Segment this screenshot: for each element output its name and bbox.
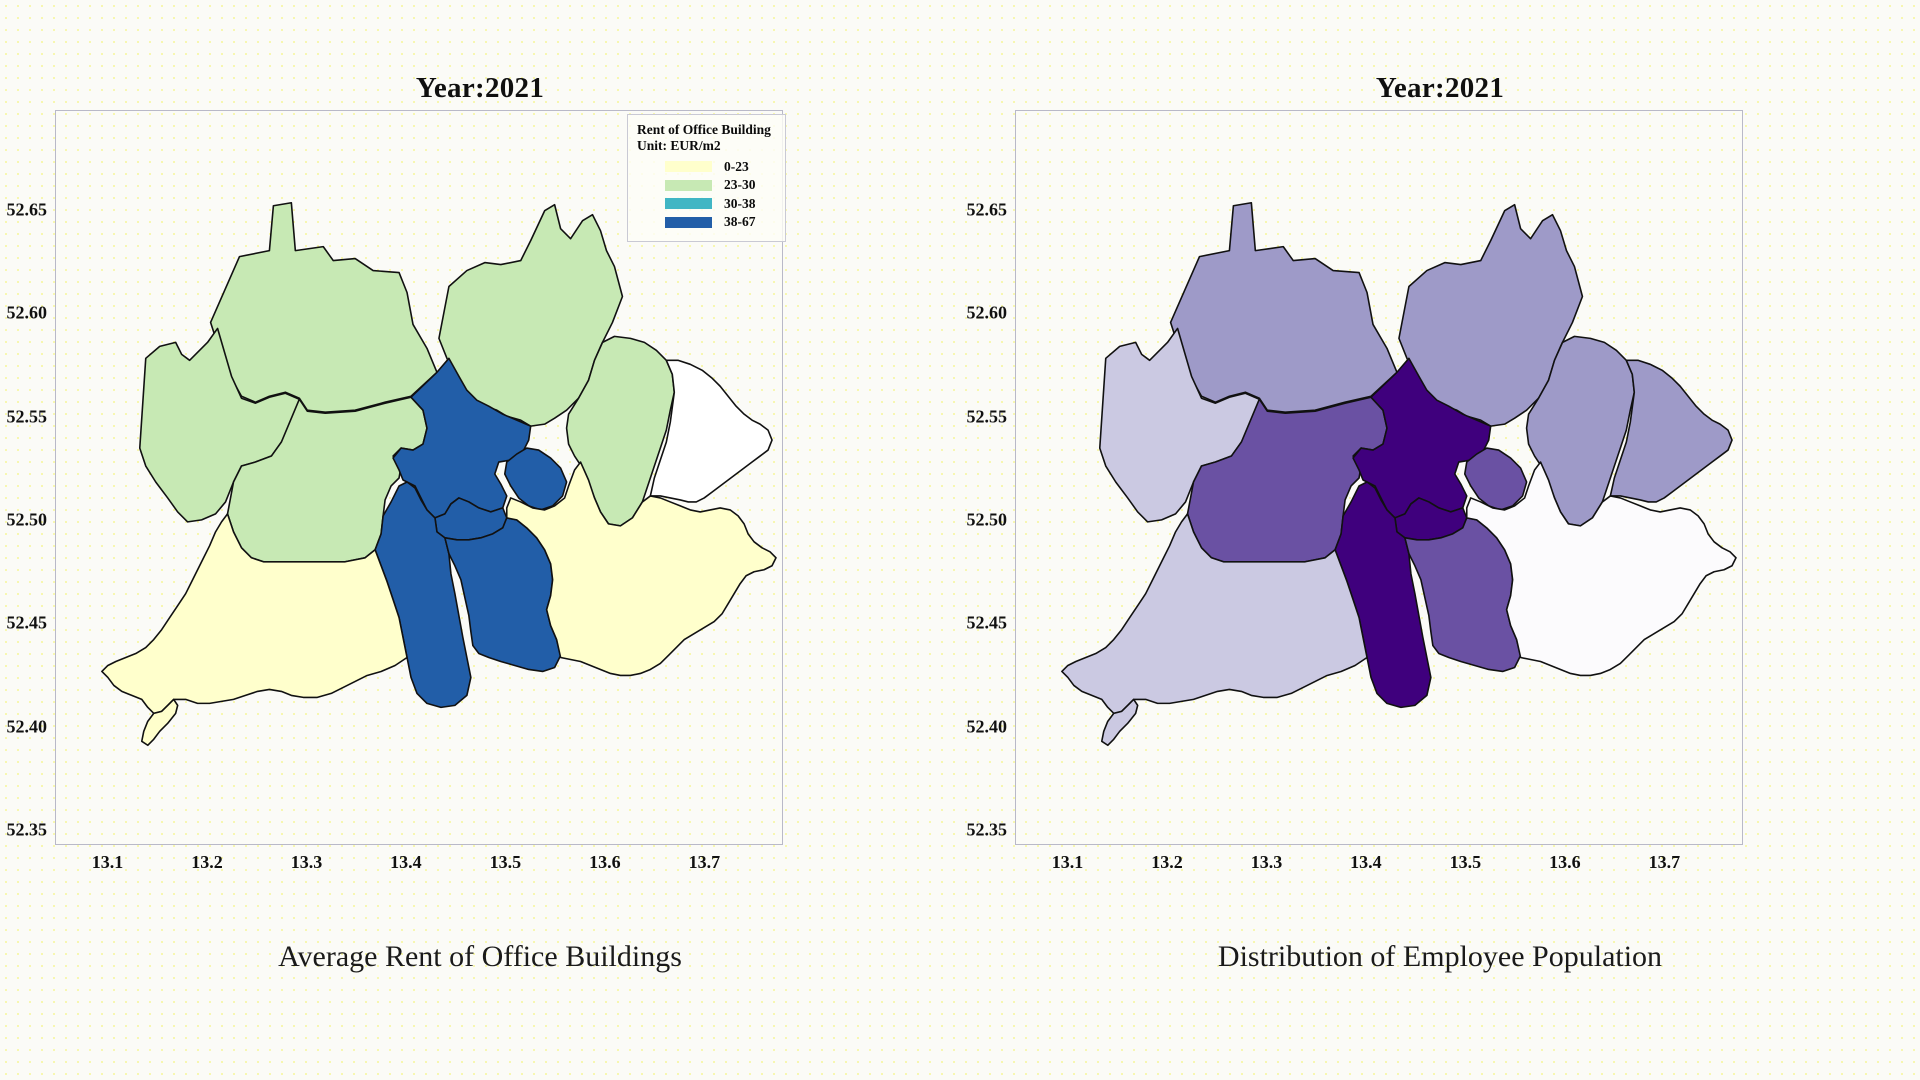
ytick-right-6: 52.65 xyxy=(967,199,1017,220)
legend-row-rent-3[interactable]: 38-67 xyxy=(637,214,776,230)
xtick-right-2: 13.3 xyxy=(1251,844,1283,873)
ytick-left-0: 52.35 xyxy=(7,820,57,841)
ytick-left-4: 52.55 xyxy=(7,406,57,427)
ytick-left-1: 52.40 xyxy=(7,716,57,737)
xtick-right-6: 13.7 xyxy=(1649,844,1681,873)
xtick-left-0: 13.1 xyxy=(92,844,124,873)
ytick-left-6: 52.65 xyxy=(7,199,57,220)
legend-rent: Rent of Office Building Unit: EUR/m2 0-2… xyxy=(627,114,786,242)
panel-title-right: Year:2021 xyxy=(960,72,1920,105)
ytick-right-3: 52.50 xyxy=(967,510,1017,531)
legend-label-rent-3: 38-67 xyxy=(724,214,756,230)
xtick-right-4: 13.5 xyxy=(1450,844,1482,873)
ytick-right-1: 52.40 xyxy=(967,716,1017,737)
ytick-left-2: 52.45 xyxy=(7,613,57,634)
ytick-left-5: 52.60 xyxy=(7,303,57,324)
region-reinickendorf[interactable] xyxy=(211,203,437,412)
panel-title-left: Year:2021 xyxy=(0,72,960,105)
xtick-left-6: 13.7 xyxy=(689,844,721,873)
ytick-right-5: 52.60 xyxy=(967,303,1017,324)
panel-caption-left: Average Rent of Office Buildings xyxy=(0,940,960,974)
legend-swatch-rent-0 xyxy=(665,161,712,172)
ytick-left-3: 52.50 xyxy=(7,510,57,531)
xtick-left-2: 13.3 xyxy=(291,844,323,873)
legend-label-rent-0: 0-23 xyxy=(724,159,749,175)
legend-row-rent-0[interactable]: 0-23 xyxy=(637,159,776,175)
legend-row-rent-2[interactable]: 30-38 xyxy=(637,196,776,212)
berlin-map-population xyxy=(1016,111,1742,844)
xtick-left-1: 13.2 xyxy=(191,844,223,873)
map-axes-right: 52.65 52.60 52.55 52.50 52.45 52.40 52.3… xyxy=(1015,110,1743,845)
panel-average-rent: Year:2021 xyxy=(0,0,960,1080)
legend-row-rent-1[interactable]: 23-30 xyxy=(637,177,776,193)
ytick-right-0: 52.35 xyxy=(967,820,1017,841)
xtick-left-4: 13.5 xyxy=(490,844,522,873)
legend-label-rent-1: 23-30 xyxy=(724,177,756,193)
legend-swatch-rent-2 xyxy=(665,198,712,209)
legend-title-rent: Rent of Office Building Unit: EUR/m2 xyxy=(637,122,776,155)
panel-employee-population: Year:2021 52.65 52.60 xyxy=(960,0,1920,1080)
xtick-left-5: 13.6 xyxy=(589,844,621,873)
xtick-left-3: 13.4 xyxy=(390,844,422,873)
map-plot-area-right: 52.65 52.60 52.55 52.50 52.45 52.40 52.3… xyxy=(1016,111,1742,844)
xtick-right-5: 13.6 xyxy=(1549,844,1581,873)
legend-swatch-rent-1 xyxy=(665,180,712,191)
panel-caption-right: Distribution of Employee Population xyxy=(960,940,1920,974)
xtick-right-1: 13.2 xyxy=(1151,844,1183,873)
ytick-right-4: 52.55 xyxy=(967,406,1017,427)
region-reinickendorf[interactable] xyxy=(1171,203,1397,412)
legend-label-rent-2: 30-38 xyxy=(724,196,756,212)
xtick-right-3: 13.4 xyxy=(1350,844,1382,873)
legend-swatch-rent-3 xyxy=(665,217,712,228)
ytick-right-2: 52.45 xyxy=(967,613,1017,634)
xtick-right-0: 13.1 xyxy=(1052,844,1084,873)
